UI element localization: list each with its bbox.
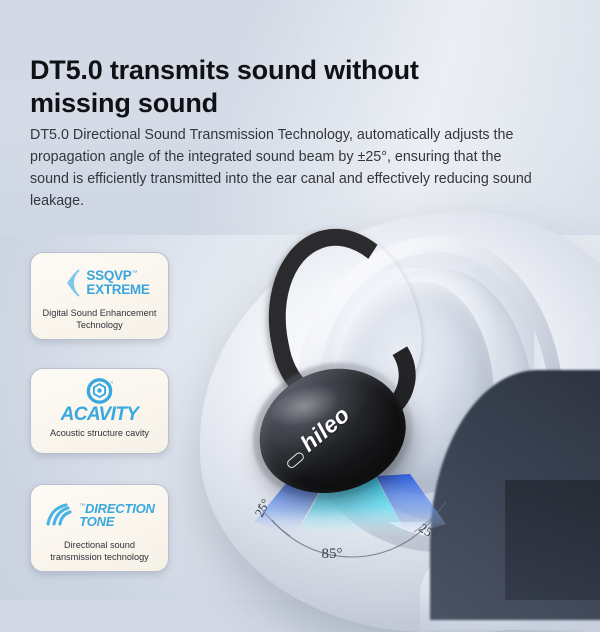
hexagon-in-circle-icon: ™: [86, 378, 113, 404]
ssqvp-wordmark: SSQVP™ EXTREME: [86, 269, 149, 297]
direction-tone-caption: Directional sound transmission technolog…: [38, 539, 161, 564]
ssqvp-line2: EXTREME: [86, 283, 149, 297]
concentric-sound-waves-icon: [49, 266, 83, 300]
page-title: DT5.0 transmits sound without missing so…: [30, 54, 430, 120]
product-marketing-image: 25° 25° 85° hileo DT5.0 transmits sound …: [0, 0, 600, 600]
ssqvp-caption: Digital Sound Enhancement Technology: [38, 307, 161, 332]
swoosh-lines-icon: [44, 500, 76, 530]
background-dark-corner: [505, 480, 600, 600]
beam-angle-center: 85°: [322, 546, 343, 562]
direction-line2: TONE: [79, 515, 155, 528]
ssqvp-line1: SSQVP: [86, 268, 131, 283]
feature-badge-acavity: ™ ACAVITY Acoustic structure cavity: [30, 368, 169, 454]
acavity-caption: Acoustic structure cavity: [38, 427, 161, 439]
ssqvp-logo: SSQVP™ EXTREME: [38, 262, 161, 304]
acavity-wordmark: ACAVITY: [61, 405, 139, 424]
direction-tone-wordmark: ™DIRECTION TONE: [79, 502, 155, 528]
body-paragraph: DT5.0 Directional Sound Transmission Tec…: [30, 124, 538, 213]
acavity-logo: ™ ACAVITY: [38, 378, 161, 424]
svg-text:™: ™: [110, 381, 113, 387]
ssqvp-tm: ™: [131, 271, 137, 277]
direction-tone-logo: ™DIRECTION TONE: [38, 494, 161, 536]
feature-badge-direction-tone: ™DIRECTION TONE Directional sound transm…: [30, 484, 169, 572]
feature-badge-ssqvp: SSQVP™ EXTREME Digital Sound Enhancement…: [30, 252, 169, 340]
